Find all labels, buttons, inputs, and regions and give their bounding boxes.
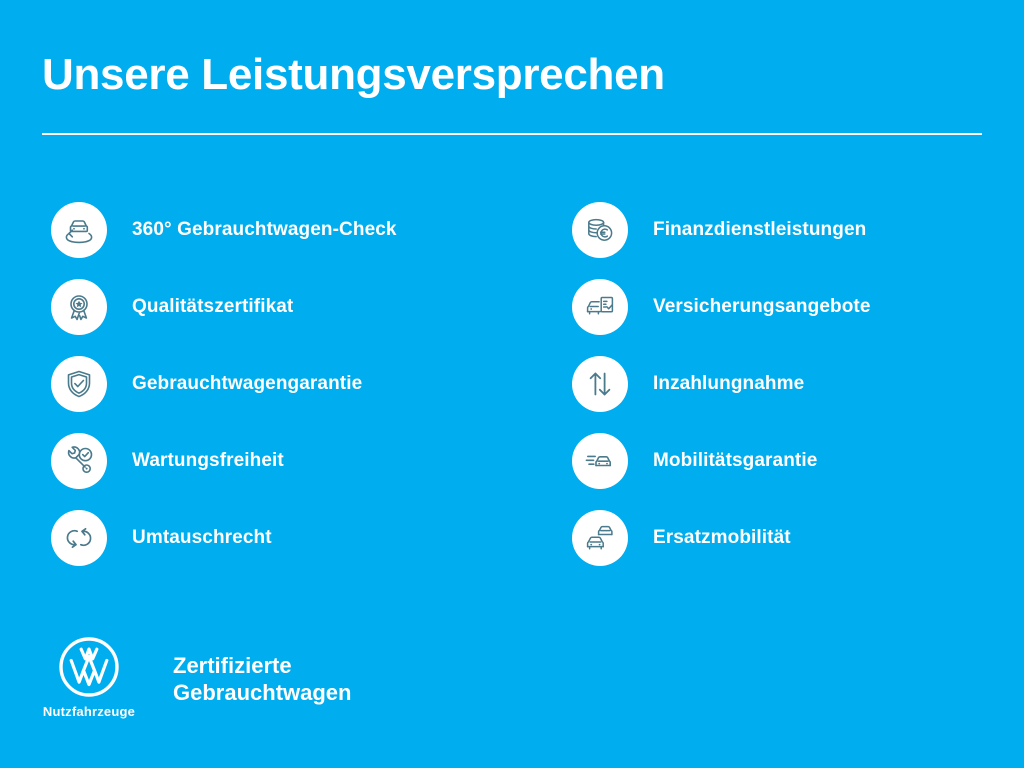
slide-canvas: Unsere Leistungsversprechen 360° Gebrauc… bbox=[0, 0, 1024, 768]
coins-euro-icon bbox=[572, 202, 628, 258]
promise-column-right: Finanzdienstleistungen Versicherungsange… bbox=[572, 202, 871, 587]
page-title: Unsere Leistungsversprechen bbox=[42, 52, 665, 98]
promise-item-exchange-right[interactable]: Umtauschrecht bbox=[51, 510, 397, 566]
promise-label: Gebrauchtwagengarantie bbox=[132, 373, 362, 395]
promise-label: Finanzdienstleistungen bbox=[653, 219, 866, 241]
vw-roundel-icon bbox=[58, 636, 120, 698]
car-speed-icon bbox=[572, 433, 628, 489]
vw-sub-label: Nutzfahrzeuge bbox=[43, 704, 135, 719]
promise-label: Ersatzmobilität bbox=[653, 527, 791, 549]
promise-column-left: 360° Gebrauchtwagen-Check Qualitätszerti… bbox=[51, 202, 397, 587]
promise-item-financial-services[interactable]: Finanzdienstleistungen bbox=[572, 202, 871, 258]
arrows-up-down-icon bbox=[572, 356, 628, 412]
promise-item-warranty[interactable]: Gebrauchtwagengarantie bbox=[51, 356, 397, 412]
promise-item-maintenance-free[interactable]: Wartungsfreiheit bbox=[51, 433, 397, 489]
promise-item-trade-in[interactable]: Inzahlungnahme bbox=[572, 356, 871, 412]
brand-claim-line-1: Zertifizierte bbox=[173, 652, 351, 679]
exchange-arrows-icon bbox=[51, 510, 107, 566]
promise-label: Umtauschrecht bbox=[132, 527, 272, 549]
promise-item-insurance-offers[interactable]: Versicherungsangebote bbox=[572, 279, 871, 335]
promise-label: Inzahlungnahme bbox=[653, 373, 804, 395]
promise-item-replacement-mobility[interactable]: Ersatzmobilität bbox=[572, 510, 871, 566]
promise-label: Wartungsfreiheit bbox=[132, 450, 284, 472]
promise-label: Mobilitätsgarantie bbox=[653, 450, 817, 472]
promise-item-quality-certificate[interactable]: Qualitätszertifikat bbox=[51, 279, 397, 335]
car-360-check-icon bbox=[51, 202, 107, 258]
brand-claim: Zertifizierte Gebrauchtwagen bbox=[173, 652, 351, 706]
title-divider bbox=[42, 133, 982, 135]
shield-check-icon bbox=[51, 356, 107, 412]
brand-claim-line-2: Gebrauchtwagen bbox=[173, 679, 351, 706]
award-rosette-icon bbox=[51, 279, 107, 335]
car-document-check-icon bbox=[572, 279, 628, 335]
two-cars-icon bbox=[572, 510, 628, 566]
brand-lockup: Nutzfahrzeuge Zertifizierte Gebrauchtwag… bbox=[38, 636, 351, 719]
promise-label: 360° Gebrauchtwagen-Check bbox=[132, 219, 397, 241]
promise-label: Qualitätszertifikat bbox=[132, 296, 293, 318]
promise-item-mobility-guarantee[interactable]: Mobilitätsgarantie bbox=[572, 433, 871, 489]
vw-logo-block: Nutzfahrzeuge bbox=[38, 636, 140, 719]
wrench-check-icon bbox=[51, 433, 107, 489]
promise-label: Versicherungsangebote bbox=[653, 296, 871, 318]
promise-item-360-check[interactable]: 360° Gebrauchtwagen-Check bbox=[51, 202, 397, 258]
